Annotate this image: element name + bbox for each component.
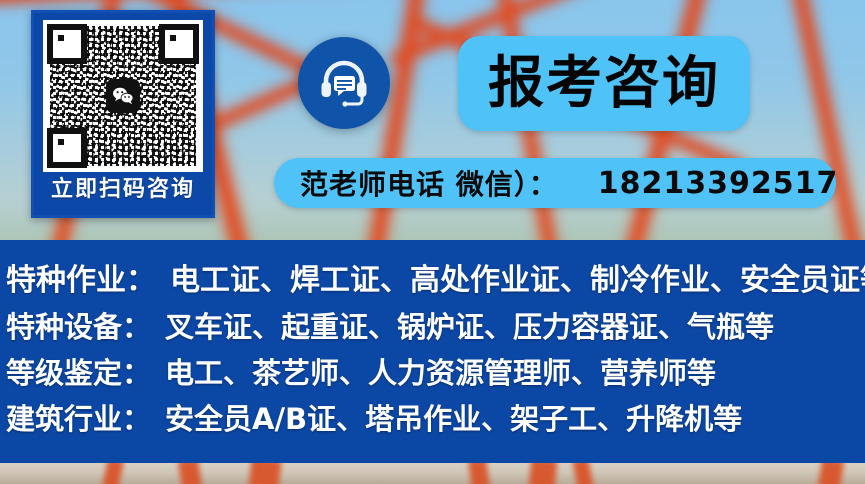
contact-pill[interactable]: 范老师电话 微信）： 18213392517 xyxy=(274,158,836,208)
category-row-construction-industry: 建筑行业： 安全员A/B证、塔吊作业、架子工、升降机等 xyxy=(0,396,865,442)
contact-phone-number[interactable]: 18213392517 xyxy=(598,166,839,201)
title-banner: 报考咨询 xyxy=(458,36,750,131)
contact-label: 范老师电话 微信）： xyxy=(300,163,558,203)
qr-finder-top-left xyxy=(47,24,87,64)
qr-finder-top-right xyxy=(159,24,199,64)
qr-code-image[interactable] xyxy=(43,20,203,172)
category-name: 特种作业： xyxy=(6,266,156,296)
page-title: 报考咨询 xyxy=(488,56,720,112)
categories-panel: 特种作业： 电工证、焊工证、高处作业证、制冷作业、安全员证等 特种设备： 叉车证… xyxy=(0,240,865,463)
headset-support-icon xyxy=(298,37,390,129)
category-name: 特种设备： xyxy=(6,313,151,342)
category-row-grade-appraisal: 等级鉴定： 电工、茶艺师、人力资源管理师、营养师等 xyxy=(0,350,865,396)
category-items: 叉车证、起重证、锅炉证、压力容器证、气瓶等 xyxy=(165,313,774,342)
category-row-special-operations: 特种作业： 电工证、焊工证、高处作业证、制冷作业、安全员证等 xyxy=(0,258,865,304)
qr-code-card[interactable]: 立即扫码咨询 xyxy=(31,10,215,218)
promo-poster: 立即扫码咨询 报考咨询 范老师电话 微信）： 18213392517 特种作业：… xyxy=(0,0,865,484)
qr-finder-bottom-left xyxy=(47,128,87,168)
category-items: 电工、茶艺师、人力资源管理师、营养师等 xyxy=(165,359,716,388)
category-name: 等级鉴定： xyxy=(6,359,151,388)
category-name: 建筑行业： xyxy=(6,405,151,434)
bottom-photo-strip xyxy=(0,463,865,484)
category-items: 电工证、焊工证、高处作业证、制冷作业、安全员证等 xyxy=(170,266,865,296)
category-row-special-equipment: 特种设备： 叉车证、起重证、锅炉证、压力容器证、气瓶等 xyxy=(0,304,865,350)
qr-card-caption: 立即扫码咨询 xyxy=(51,178,195,200)
category-items: 安全员A/B证、塔吊作业、架子工、升降机等 xyxy=(165,405,742,434)
wechat-icon xyxy=(106,79,140,113)
